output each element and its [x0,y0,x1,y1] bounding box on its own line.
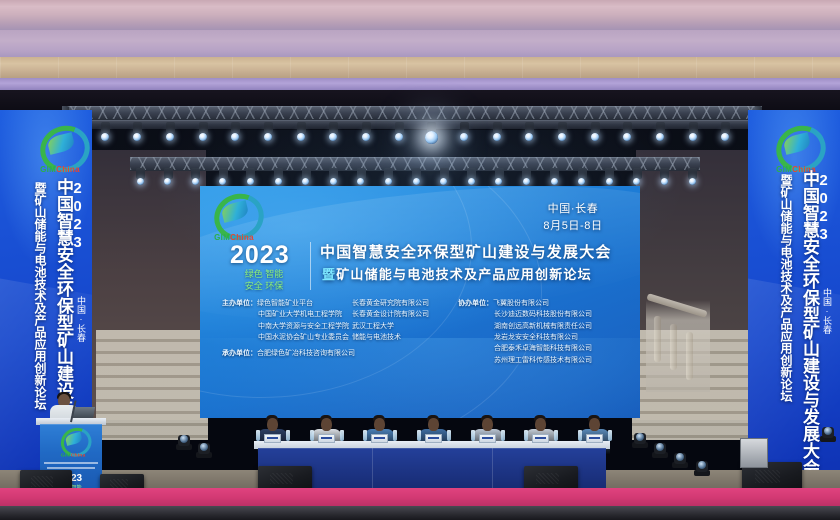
podium-text-line [47,467,95,469]
balustrade-right [646,300,710,392]
banner-left-title-sub: 暨矿山储能与电池技术及产品应用创新论坛 [33,182,46,410]
host-row-0: 主办单位：绿色智能矿业平台 [222,298,355,309]
stage-light-housing [199,122,208,133]
organizer-block-cohost: 协办单位：飞翼股份有限公司 长沙迪迈数码科技股份有限公司 湖南创远高新机械有限责… [458,298,592,366]
water-bottle [393,430,397,441]
host-row-3: 中国水泥协会矿山专业委员会 [222,332,355,343]
cohost-2: 湖南创远高新机械有限责任公司 [458,321,592,332]
name-plate [586,434,603,443]
cornice-molding [0,57,840,79]
stage-light-housing [493,122,502,133]
stage-light [523,178,530,185]
stage-light-housing [689,122,698,133]
stage-light-housing [166,122,175,133]
baluster [686,332,693,380]
cohost-0: 飞翼股份有限公司 [493,300,549,307]
stage-light [264,133,272,141]
led-date: 8月5日-8日 [518,218,628,235]
water-bottle [524,430,528,441]
stage-light [362,133,370,141]
banner-right-title-sub: 暨矿山储能与电池技术及产品应用创新论坛 [779,174,792,402]
water-bottle [417,430,421,441]
light-lens [200,443,208,451]
name-plate [532,434,549,443]
water-bottle [471,430,475,441]
stage-light [199,133,207,141]
stage-light [493,133,501,141]
stage-light [297,133,305,141]
moving-head-light [196,440,212,458]
baluster [670,324,677,370]
led-slogan-line2: 安全 环保 [226,280,302,292]
water-bottle [256,430,260,441]
undertaker-row: 承办单位：合肥绿色矿冶科技咨询有限公司 [222,348,355,359]
banner-left-logo-text: GIMChina [34,165,86,174]
moving-head-light [694,458,710,476]
stage-light-housing [525,122,534,133]
banner-right-sub-mark: 暨 [779,174,793,186]
name-plate [264,434,281,443]
stage-carpet [0,488,840,508]
gim-abbrev: GIM [61,452,71,458]
gim-china-logo: GIMChina [208,194,260,242]
stage-light [661,178,668,185]
host-row-2: 中南大学资源与安全工程学院 [222,321,355,332]
name-plate [425,434,442,443]
stage-light-housing [297,122,306,133]
water-bottle [340,430,344,441]
banner-left-place: 中国·长春 [75,296,88,342]
led-place: 中国·长春 [518,201,628,218]
water-bottle [608,430,612,441]
cohost-1: 长沙迪迈数码科技股份有限公司 [458,309,592,320]
table-skirt-seam [372,448,373,490]
stage-light-housing [264,122,273,133]
stage-light [591,133,599,141]
stage-light-housing [362,122,371,133]
light-lens [180,435,188,443]
moving-head-light [652,440,668,458]
light-lens [636,433,644,441]
stage-light-housing [656,122,665,133]
speaker-head [428,418,439,431]
led-slogan-line1: 绿色 智能 [226,268,302,280]
cohost-4: 合肥泰禾卓海智能科技有限公司 [458,343,592,354]
stage-light-housing [623,122,632,133]
banner-right-sub-text: 矿山储能与电池技术及产品应用创新论坛 [779,186,793,402]
organizer-block-host-col2: 长春黄金研究院有限公司 长春黄金设计院有限公司 武汉工程大学 储能与电池技术 [352,298,429,343]
water-bottle [310,430,314,441]
stage-light-housing [133,122,142,133]
banner-left-logo: GIMChina [34,126,86,174]
speaker-head [321,418,332,431]
stage-light [192,178,199,185]
cohost-label: 协办单位： [458,300,493,307]
title-divider [310,242,311,290]
stage-light [330,178,337,185]
light-lens [824,427,832,435]
cohost-row-0: 协办单位：飞翼股份有限公司 [458,298,592,309]
ceiling-uplight-glow [0,30,840,60]
moving-head-light [672,450,688,468]
host-label: 主办单位： [222,300,257,307]
banner-left-sub-mark: 暨 [33,182,47,194]
stage-light [460,133,468,141]
stage-light [558,133,566,141]
host-col2-1: 长春黄金设计院有限公司 [352,309,429,320]
moving-head-light [176,432,192,450]
stage-light [425,131,438,144]
led-title-sub: 暨矿山储能与电池技术及产品应用创新论坛 [322,264,592,283]
undertaker-name: 合肥绿色矿冶科技咨询有限公司 [257,350,355,357]
baluster [654,316,661,362]
stage-photo: GIMChina 2023 绿色 智能 安全 环保 中国智慧安全环保型矿山建设与… [0,0,840,520]
table-skirt-seam [492,448,493,490]
stage-light [468,178,475,185]
stage-light [413,178,420,185]
light-lens [656,443,664,451]
water-bottle [286,430,290,441]
host-row-1: 中国矿业大学机电工程学院 [222,309,355,320]
stage-light [395,133,403,141]
stage-light-housing [558,122,567,133]
podium-logo: GIMChina [57,428,89,458]
banner-right-title-main: 中国智慧安全环保型矿山建设与发展大会 [801,170,818,476]
name-plate [318,434,335,443]
stage-light-housing [395,122,404,133]
front-floor [0,506,840,520]
equipment-road-case [740,438,768,468]
speaker-head [374,418,385,431]
stage-light-housing [591,122,600,133]
name-plate [371,434,388,443]
speaker-head [535,418,546,431]
stage-light [275,178,282,185]
stage-light [137,178,144,185]
gim-abbrev: GIM [40,165,56,174]
cohost-5: 苏州理工雷科传感技术有限公司 [458,355,592,366]
water-bottle [501,430,505,441]
gim-suffix: China [71,452,86,458]
led-year: 2023 [230,241,290,270]
light-lens [698,461,706,469]
name-plate [479,434,496,443]
stage-light [656,133,664,141]
cohost-3: 龙岩龙安安全科技有限公司 [458,332,592,343]
water-bottle [363,430,367,441]
led-title-sub-mark: 暨 [322,267,336,282]
led-title-main: 中国智慧安全环保型矿山建设与发展大会 [320,241,612,262]
stairs-left [96,330,208,440]
stage-light [689,178,696,185]
led-place-date: 中国·长春 8月5日-8日 [518,201,628,234]
banner-left-sub-text: 矿山储能与电池技术及产品应用创新论坛 [33,194,47,410]
water-bottle [447,430,451,441]
led-title-sub-text: 矿山储能与电池技术及产品应用创新论坛 [336,267,592,282]
water-bottle [578,430,582,441]
host-col2-3: 储能与电池技术 [352,332,429,343]
stage-light-housing [231,122,240,133]
stage-light [606,178,613,185]
led-slogan: 绿色 智能 安全 环保 [226,268,302,292]
host-col1-0: 绿色智能矿业平台 [257,300,313,307]
stage-light [166,133,174,141]
moving-head-light [820,424,836,442]
speaker-head [267,418,278,431]
host-col2-0: 长春黄金研究院有限公司 [352,298,429,309]
gim-abbrev: GIM [214,233,230,242]
banner-right-logo: GIMChina [770,126,822,174]
stage-light-housing [460,122,469,133]
main-led-screen: GIMChina 2023 绿色 智能 安全 环保 中国智慧安全环保型矿山建设与… [200,186,640,418]
stage-light-housing [101,122,110,133]
podium-text-line [44,462,98,464]
speaker-head [589,418,600,431]
stage-light [551,178,558,185]
stage-light [101,133,109,141]
podium-logo-text: GIMChina [57,452,89,458]
organizer-block-host: 主办单位：绿色智能矿业平台 中国矿业大学机电工程学院 中南大学资源与安全工程学院… [222,298,355,360]
water-bottle [554,430,558,441]
host-col2-2: 武汉工程大学 [352,321,429,332]
stage-light [689,133,697,141]
light-lens [676,453,684,461]
stage-light [385,178,392,185]
stage-light [247,178,254,185]
undertaker-label: 承办单位： [222,350,257,357]
gim-suffix: China [56,165,80,174]
moving-head-light [632,430,648,448]
stage-light-housing [721,122,730,133]
truss-row-1-lattice [62,106,762,119]
speaker-head [482,418,493,431]
stage-light-housing [329,122,338,133]
gim-abbrev: GIM [776,165,792,174]
banner-right-place: 中国·长春 [821,288,834,334]
